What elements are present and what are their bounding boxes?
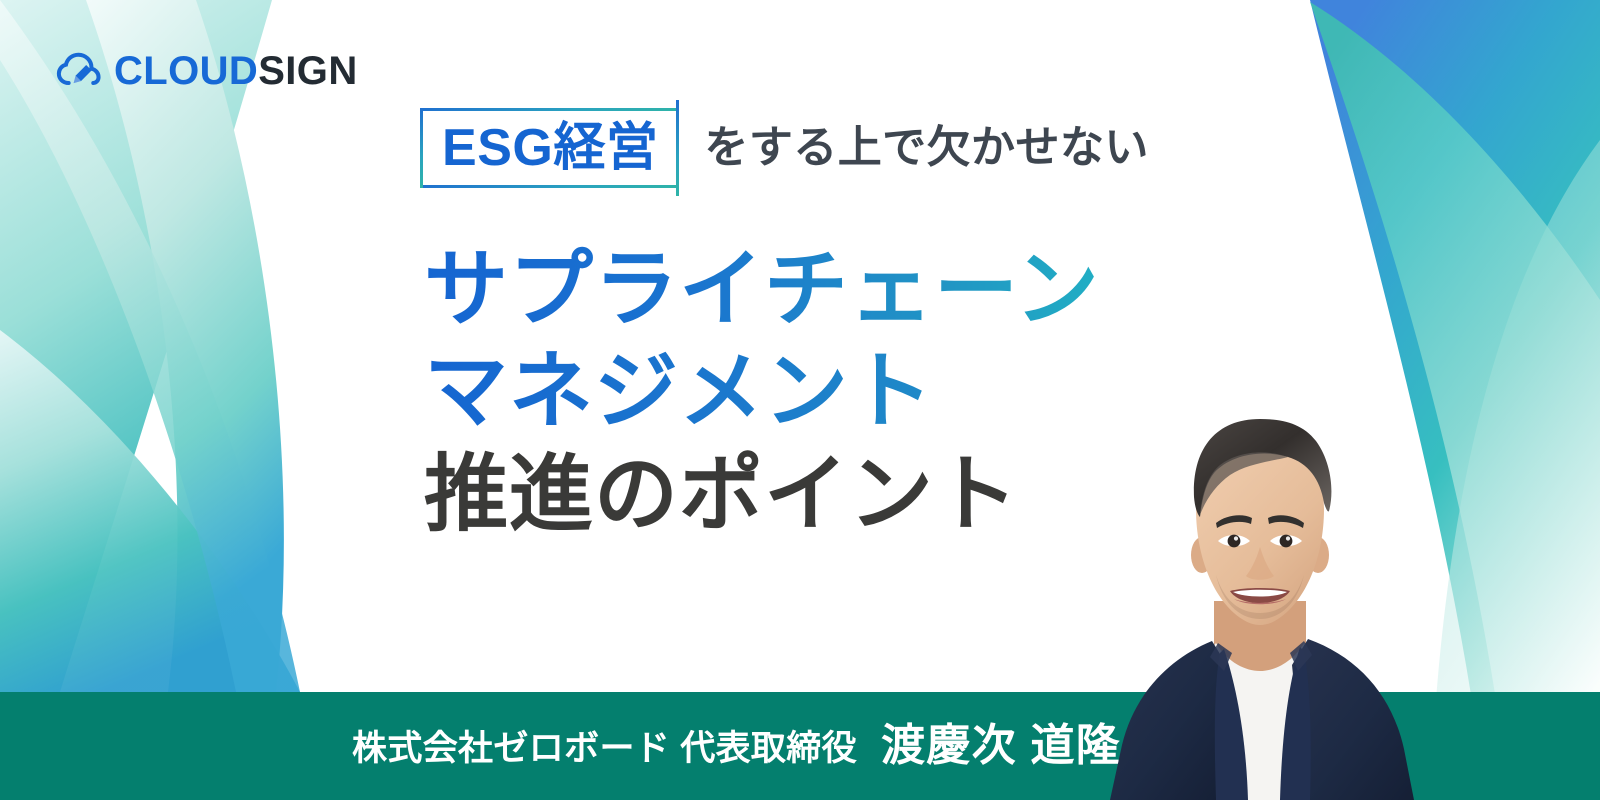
speaker-footer-content: 株式会社ゼロボード 代表取締役 渡慶次 道隆 <box>352 724 1121 768</box>
eyebrow-badge: ESG経営 <box>420 108 678 188</box>
title-line-3: 推進のポイント <box>424 443 1100 545</box>
badge-border-right <box>676 100 679 196</box>
badge-border-top <box>420 108 678 111</box>
badge-border-left <box>420 108 423 188</box>
logo-wordmark: CLOUDSIGN <box>114 51 358 91</box>
webinar-banner: CLOUDSIGN ESG経営 をする上で欠かせない サプライチェーン マネジメ… <box>0 0 1600 800</box>
title-line-1: サプライチェーン <box>424 238 1100 340</box>
eyebrow-tail-text: をする上で欠かせない <box>704 108 1148 188</box>
cloud-pen-icon <box>56 48 102 94</box>
speaker-name: 渡慶次 道隆 <box>881 724 1121 768</box>
logo-word-sign: SIGN <box>258 49 357 93</box>
logo-word-cloud: CLOUD <box>114 49 258 93</box>
eyebrow-badge-text: ESG経営 <box>442 122 658 174</box>
cloudsign-logo[interactable]: CLOUDSIGN <box>56 48 358 94</box>
title-line-2: マネジメント <box>424 340 1100 442</box>
page-title: サプライチェーン マネジメント 推進のポイント <box>424 238 1100 545</box>
eyebrow-row: ESG経営 をする上で欠かせない <box>420 108 1149 188</box>
speaker-organization: 株式会社ゼロボード 代表取締役 <box>352 731 857 766</box>
badge-border-bottom <box>420 185 678 188</box>
speaker-portrait <box>1096 405 1426 800</box>
